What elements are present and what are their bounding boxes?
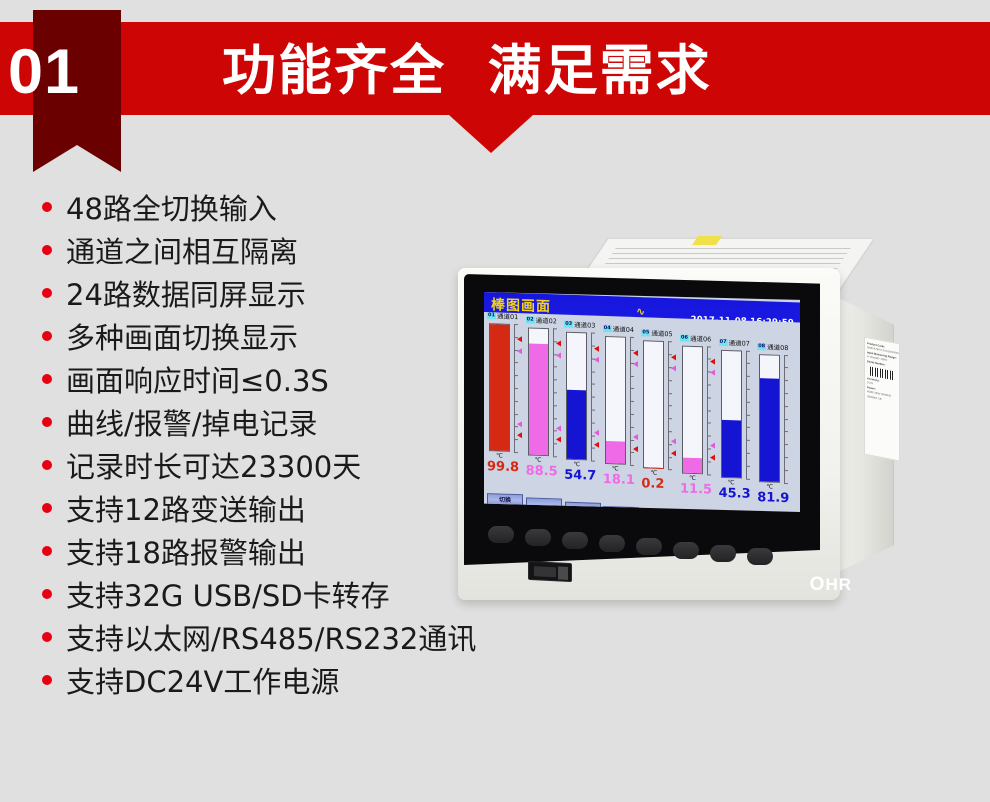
feature-label: 曲线/报警/掉电记录 [66,401,318,443]
banner-number: 01 [0,36,88,108]
hardware-key-4[interactable] [599,535,625,552]
channel-badge: 04 [603,325,612,332]
bullet-dot [42,417,52,427]
bar-scale [553,328,554,456]
channel-label: 通道08 [767,343,788,352]
bar-scale [784,355,785,483]
channel-header: 07通道07 [719,338,750,348]
bullet-dot [42,503,52,513]
bar-channel: 02通道02℃88.5 [526,316,565,492]
hardware-key-5[interactable] [636,538,662,555]
feature-label: 支持以太网/RS485/RS232通讯 [66,616,476,658]
channel-badge: 07 [719,338,728,345]
brand-logo: OHR [810,574,852,596]
channel-badge: 08 [757,343,766,350]
feature-item: 支持DC24V工作电源 [42,658,562,701]
feature-label: 支持DC24V工作电源 [66,659,339,701]
bar-track [489,323,510,452]
alarm-marker [517,432,522,438]
channel-value: 0.2 [641,477,683,493]
device-lcd-screen[interactable]: 棒图画面 ∿ 2017-11-08 16:29:59 01通道01℃99.802… [484,292,800,512]
alarm-marker [556,437,561,443]
bar-fill [567,390,586,460]
channel-badge: 03 [564,321,573,328]
feature-label: 通道之间相互隔离 [66,229,298,271]
alarm-marker [633,434,638,440]
channel-label: 通道07 [729,339,750,348]
alarm-marker [556,352,561,358]
alarm-marker [710,370,715,376]
feature-label: 多种画面切换显示 [66,315,298,357]
channel-value: 99.8 [487,459,529,475]
hardware-key-7[interactable] [710,545,736,562]
alarm-marker [517,421,522,427]
alarm-marker [594,441,599,447]
channel-badge: 01 [487,312,496,319]
alarm-marker [594,345,599,351]
channel-label: 通道06 [690,334,711,343]
channel-value: 54.7 [564,468,606,484]
bar-fill [529,343,548,455]
hardware-key-1[interactable] [488,526,514,543]
hardware-key-3[interactable] [562,532,588,549]
channel-value: 18.1 [603,472,645,488]
alarm-marker [710,454,715,460]
alarm-marker [671,450,676,456]
channel-header: 06通道06 [680,334,711,344]
alarm-marker [556,341,561,347]
channel-header: 03通道03 [564,321,595,331]
bar-channel: 05通道05℃0.2 [641,330,680,506]
channel-label: 通道04 [613,326,634,335]
bar-track [528,328,549,457]
bullet-dot [42,288,52,298]
alarm-marker [710,443,715,449]
channel-label: 通道02 [536,317,557,326]
bar-channel: 08通道08℃81.9 [757,343,796,512]
channel-value: 11.5 [680,481,722,497]
bar-fill [644,467,663,468]
bar-fill [760,378,779,482]
device-keypad[interactable] [488,526,808,566]
feature-label: 24路数据同屏显示 [66,272,306,314]
feature-label: 48路全切换输入 [66,186,277,228]
feature-label: 支持32G USB/SD卡转存 [66,573,390,615]
bar-track [682,345,703,474]
hardware-key-6[interactable] [673,542,699,559]
bar-scale [591,333,592,461]
usb-port[interactable] [528,561,572,582]
alarm-marker [517,348,522,354]
device-spec-label: Product Code: OHR-A730-0-0-0-0/2/2/P/U/S… [864,337,900,462]
bar-scale [707,346,708,474]
alarm-marker [671,438,676,444]
channel-header: 08通道08 [757,343,788,353]
feature-label: 记录时长可达23300天 [66,444,361,486]
feature-item: 48路全切换输入 [42,185,562,228]
bullet-dot [42,675,52,685]
alarm-marker [594,357,599,363]
bar-fill [683,458,702,473]
bullet-dot [42,374,52,384]
bullet-dot [42,546,52,556]
bar-track [759,354,780,483]
bar-fill [722,419,741,477]
bar-channel: 04通道04℃18.1 [603,325,642,501]
page-title: 功能齐全 满足需求 [222,43,712,99]
channel-badge: 02 [526,316,535,323]
feature-label: 支持12路变送输出 [66,487,306,529]
channel-header: 01通道01 [487,312,518,322]
channel-value: 88.5 [526,463,568,479]
alarm-marker [671,354,676,360]
alarm-marker [633,446,638,452]
channel-label: 通道05 [651,330,672,339]
alarm-marker [710,358,715,364]
bar-fill [606,441,625,464]
bar-channel: 07通道07℃45.3 [719,338,758,512]
bar-scale [668,342,669,470]
bar-channel: 06通道06℃11.5 [680,334,719,510]
alarm-marker [633,350,638,356]
alarm-marker [556,425,561,431]
bullet-dot [42,331,52,341]
bar-scale [630,337,631,465]
alarm-marker [671,365,676,371]
channel-badge: 05 [641,330,650,337]
bar-scale [514,324,515,452]
channel-header: 02通道02 [526,316,557,326]
bullet-dot [42,632,52,642]
bar-chart: 01通道01℃99.802通道02℃88.503通道03℃54.704通道04℃… [484,312,800,497]
bar-fill [490,324,509,450]
bar-track [721,349,742,478]
bullet-dot [42,589,52,599]
bullet-dot [42,245,52,255]
bar-track [605,336,626,465]
bar-track [643,341,664,470]
channel-label: 通道03 [574,321,595,330]
alarm-marker [594,430,599,436]
alarm-marker [517,336,522,342]
device-photo: Product Code: OHR-A730-0-0-0-0/2/2/P/U/S… [440,230,870,630]
bullet-dot [42,202,52,212]
banner-notch [449,115,533,153]
channel-badge: 06 [680,334,689,341]
bar-channel: 01通道01℃99.8 [487,312,526,488]
bar-channel: 03通道03℃54.7 [564,321,603,497]
bullet-dot [42,460,52,470]
channel-header: 04通道04 [603,325,634,335]
bar-scale [746,350,747,478]
alarm-marker [633,361,638,367]
channel-label: 通道01 [497,312,518,321]
feature-label: 支持18路报警输出 [66,530,306,572]
hardware-key-2[interactable] [525,529,551,546]
channel-header: 05通道05 [641,330,672,340]
feature-label: 画面响应时间≤0.3S [66,358,329,400]
hardware-key-8[interactable] [747,548,773,565]
bar-track [566,332,587,461]
header-banner: 01 功能齐全 满足需求 [0,22,990,154]
